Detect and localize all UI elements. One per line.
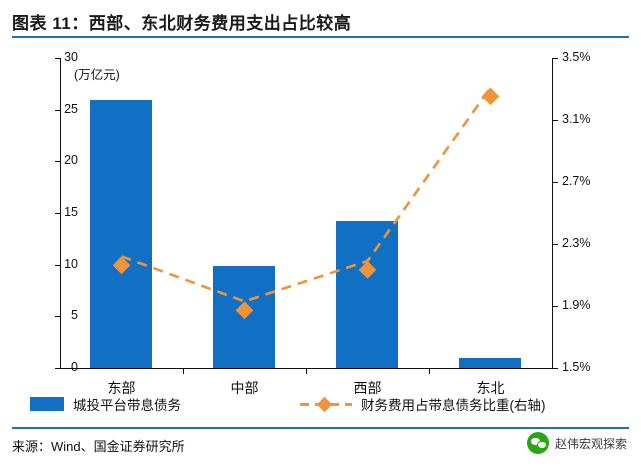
left-axis-label: 30 xyxy=(38,50,78,64)
bar-northeast xyxy=(459,358,521,368)
right-axis-line xyxy=(552,58,553,368)
left-axis-label: 20 xyxy=(38,153,78,167)
right-axis-label: 3.1% xyxy=(562,112,612,126)
right-tick-mark xyxy=(553,120,558,121)
x-tick-mark xyxy=(183,369,184,374)
right-tick-mark xyxy=(553,306,558,307)
source-note: 来源：Wind、国金证券研究所 xyxy=(12,436,185,455)
left-axis-label: 25 xyxy=(38,102,78,116)
title-divider xyxy=(12,36,629,38)
left-axis-label: 10 xyxy=(38,257,78,271)
legend-item-bar: 城投平台带息债务 xyxy=(30,394,181,414)
legend-item-line: 财务费用占带息债务比重(右轴) xyxy=(300,394,546,414)
right-tick-mark xyxy=(553,244,558,245)
bar-east xyxy=(90,100,152,368)
legend-swatch-icon xyxy=(30,397,64,411)
left-axis-label: 15 xyxy=(38,205,78,219)
right-tick-mark xyxy=(553,58,558,59)
right-axis-label: 1.5% xyxy=(562,360,612,374)
watermark-label: 赵伟宏观探索 xyxy=(555,435,627,452)
bar-central xyxy=(213,266,275,368)
x-tick-mark xyxy=(429,369,430,374)
x-tick-mark xyxy=(306,369,307,374)
line-markers xyxy=(113,88,500,320)
right-tick-mark xyxy=(553,182,558,183)
left-axis-label: 0 xyxy=(38,360,78,374)
right-axis-label: 1.9% xyxy=(562,298,612,312)
figure-title-row: 图表 11：西部、东北财务费用支出占比较高 xyxy=(12,6,629,36)
legend-label-line: 财务费用占带息债务比重(右轴) xyxy=(361,394,546,414)
footer-divider xyxy=(12,427,629,429)
wechat-icon xyxy=(527,432,549,454)
left-axis-label: 5 xyxy=(38,308,78,322)
watermark: 赵伟宏观探索 xyxy=(527,432,627,454)
line-path-ratio xyxy=(122,88,491,302)
axis-unit-label: (万亿元) xyxy=(74,64,120,83)
right-tick-mark xyxy=(553,368,558,369)
legend-line-icon xyxy=(300,397,352,411)
page-title: 图表 11：西部、东北财务费用支出占比较高 xyxy=(12,9,351,34)
marker-diamond-northeast xyxy=(482,88,500,106)
chart-area: (万亿元) 30 25 20 15 10 5 0 3.5% 3.1% 2.7% … xyxy=(12,42,629,382)
legend-label-bar: 城投平台带息债务 xyxy=(73,394,181,414)
bar-west xyxy=(336,221,398,368)
right-axis-label: 2.3% xyxy=(562,236,612,250)
legend-diamond-icon xyxy=(317,396,333,412)
right-axis-label: 2.7% xyxy=(562,174,612,188)
right-axis-label: 3.5% xyxy=(562,50,612,64)
figure-root: 图表 11：西部、东北财务费用支出占比较高 (万亿元) 30 25 20 15 … xyxy=(0,0,641,473)
chart-legend: 城投平台带息债务 财务费用占带息债务比重(右轴) xyxy=(12,392,629,420)
